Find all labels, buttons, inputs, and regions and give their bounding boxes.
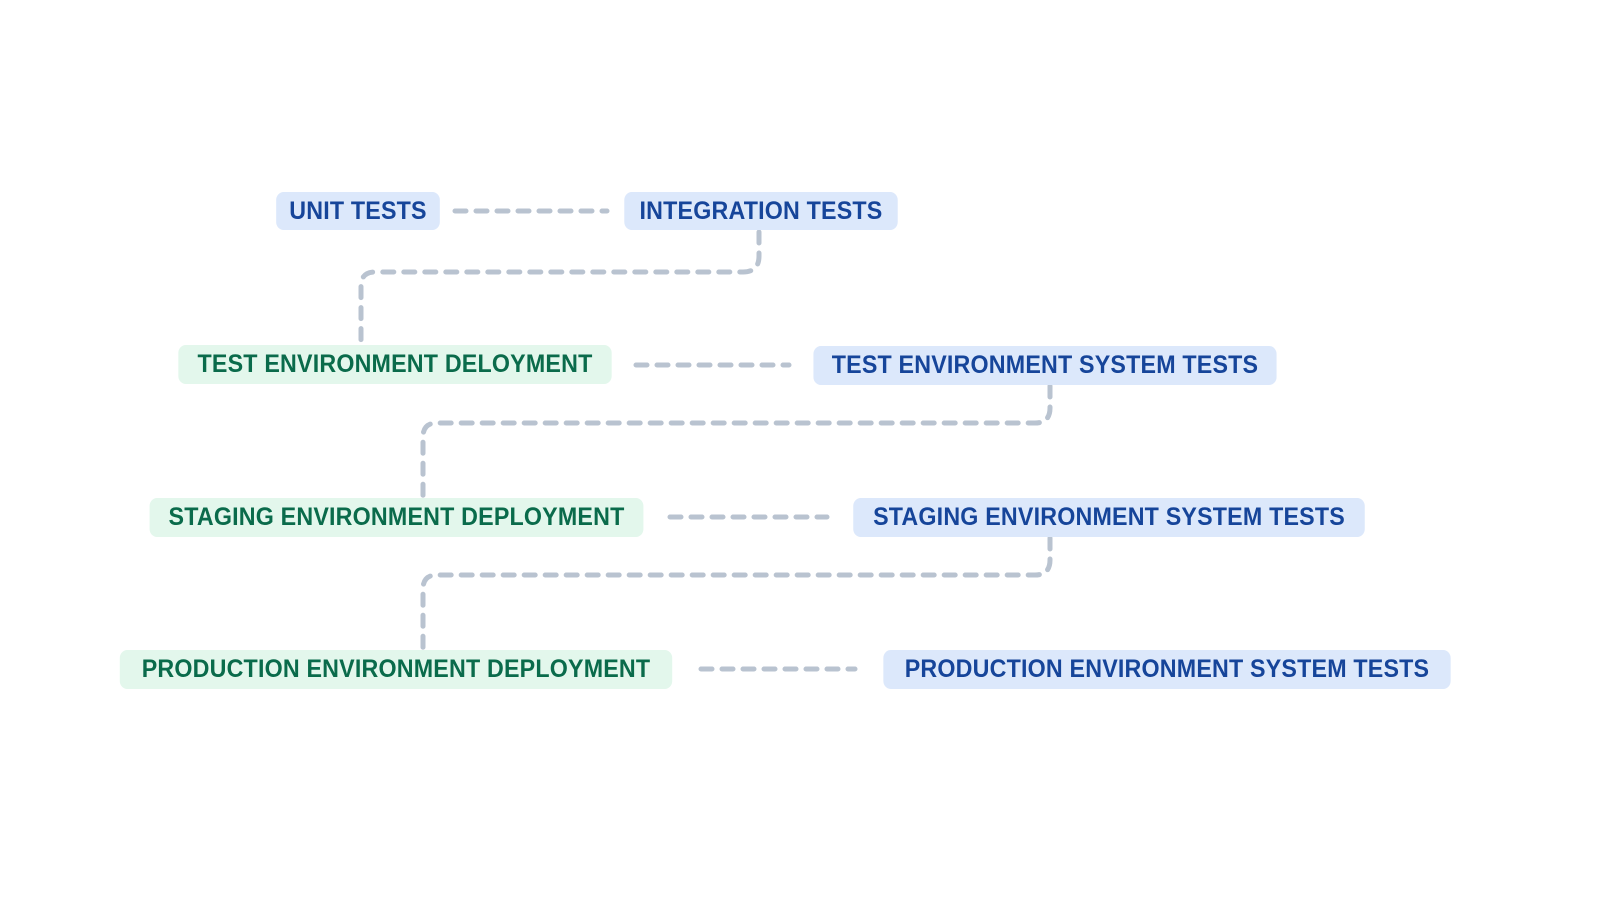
edge-staging-tests-to-prod (423, 538, 1050, 648)
node-unit-tests[interactable]: UNIT TESTS (276, 192, 440, 230)
edge-integration-to-test-deploy (361, 232, 759, 343)
node-label: INTEGRATION TESTS (640, 199, 883, 224)
node-label: PRODUCTION ENVIRONMENT SYSTEM TESTS (905, 657, 1430, 682)
node-test-environment-deloyment[interactable]: TEST ENVIRONMENT DELOYMENT (178, 345, 611, 384)
node-label: TEST ENVIRONMENT DELOYMENT (198, 352, 593, 377)
edge-test-tests-to-staging (423, 386, 1050, 496)
node-label: STAGING ENVIRONMENT SYSTEM TESTS (873, 505, 1345, 530)
node-staging-environment-system-tests[interactable]: STAGING ENVIRONMENT SYSTEM TESTS (853, 498, 1365, 537)
node-label: TEST ENVIRONMENT SYSTEM TESTS (832, 353, 1259, 378)
node-staging-environment-deployment[interactable]: STAGING ENVIRONMENT DEPLOYMENT (150, 498, 644, 537)
node-label: UNIT TESTS (289, 199, 426, 224)
node-production-environment-system-tests[interactable]: PRODUCTION ENVIRONMENT SYSTEM TESTS (883, 650, 1450, 689)
edge-layer (0, 0, 1600, 900)
node-test-environment-system-tests[interactable]: TEST ENVIRONMENT SYSTEM TESTS (813, 346, 1276, 385)
node-label: STAGING ENVIRONMENT DEPLOYMENT (169, 505, 625, 530)
node-label: PRODUCTION ENVIRONMENT DEPLOYMENT (142, 657, 651, 682)
node-integration-tests[interactable]: INTEGRATION TESTS (624, 192, 897, 230)
node-production-environment-deployment[interactable]: PRODUCTION ENVIRONMENT DEPLOYMENT (120, 650, 672, 689)
diagram-canvas: UNIT TESTS INTEGRATION TESTS TEST ENVIRO… (0, 0, 1600, 900)
